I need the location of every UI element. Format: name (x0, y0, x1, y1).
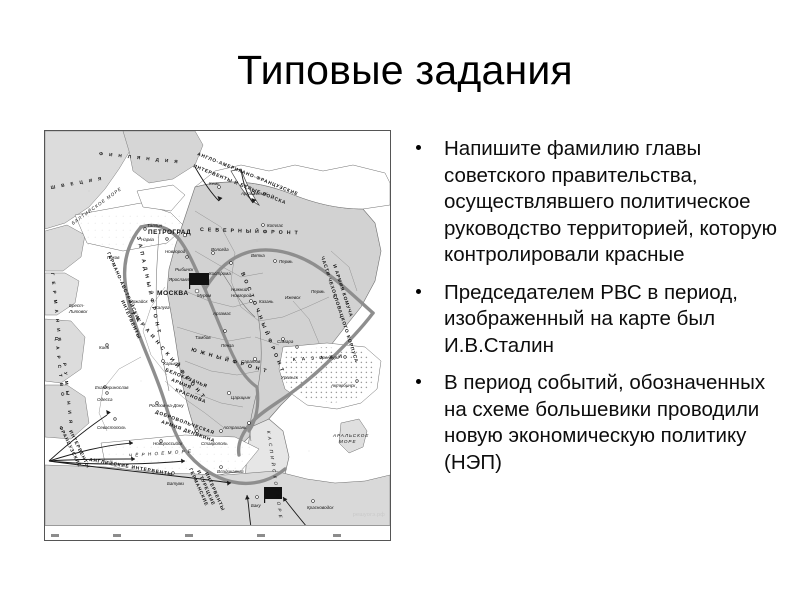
svg-text:Кемь: Кемь (209, 181, 220, 186)
svg-text:Таллин: Таллин (147, 223, 163, 228)
svg-text:Батуми: Батуми (167, 481, 184, 486)
svg-text:Литовск: Литовск (68, 309, 88, 314)
svg-text:ПЕТРОГРАД: ПЕТРОГРАД (148, 229, 191, 236)
svg-text:Ярославль: Ярославль (168, 277, 192, 282)
svg-text:Кострома: Кострома (209, 271, 231, 276)
svg-text:Рыбинск: Рыбинск (175, 267, 194, 272)
civil-war-map: ПЕТРОГРАД МОСКВА Кемь Архангельск Котлас… (44, 130, 391, 541)
list-item: Председателем РВС в период, изображенный… (408, 280, 780, 360)
svg-text:Владикавказ: Владикавказ (217, 469, 244, 474)
bullet-list: Напишите фамилию главы советского правит… (408, 136, 780, 476)
svg-text:Муром: Муром (197, 293, 211, 298)
svg-text:Ижевск: Ижевск (285, 295, 301, 300)
map-watermark: решуогэ.рф (353, 512, 385, 518)
svg-text:Казань: Казань (259, 299, 274, 304)
svg-text:Одесса: Одесса (97, 397, 113, 402)
bullet-dot-icon (416, 289, 421, 294)
svg-text:Царицын: Царицын (231, 395, 251, 400)
svg-text:Пермь: Пермь (279, 259, 293, 264)
bullet-text: В период событий, обозначенных на схеме … (444, 371, 765, 474)
svg-text:Пенза: Пенза (221, 343, 234, 348)
svg-text:Красноводск: Красноводск (307, 505, 334, 510)
svg-text:Брест-: Брест- (69, 303, 85, 308)
svg-text:Нарва: Нарва (141, 237, 155, 242)
map-scale-strip (45, 525, 390, 540)
svg-text:Актюбинск: Актюбинск (330, 383, 356, 388)
list-item: Напишите фамилию главы советского правит… (408, 136, 780, 269)
svg-text:Екатеринослав: Екатеринослав (95, 385, 129, 390)
list-item: В период событий, обозначенных на схеме … (408, 370, 780, 476)
page-title: Типовые задания (60, 45, 750, 95)
svg-text:Новгород: Новгород (165, 249, 186, 254)
svg-text:Баку: Баку (251, 503, 262, 508)
svg-text:Арзамас: Арзамас (212, 311, 232, 316)
svg-text:Пермь: Пермь (311, 289, 325, 294)
svg-text:Астрахань: Астрахань (222, 425, 247, 430)
svg-text:АРАЛЬСКОЕ: АРАЛЬСКОЕ (332, 433, 369, 438)
bullet-text: Напишите фамилию главы советского правит… (444, 137, 777, 266)
bullet-text: Председателем РВС в период, изображенный… (444, 281, 738, 357)
svg-text:Самара: Самара (277, 339, 294, 344)
bullet-dot-icon (416, 379, 421, 384)
slide: Типовые задания (0, 0, 800, 600)
map-graphic: ПЕТРОГРАД МОСКВА Кемь Архангельск Котлас… (45, 131, 390, 540)
svg-text:Котлас: Котлас (267, 223, 284, 228)
svg-text:Новороссийск: Новороссийск (153, 440, 183, 446)
svg-text:Ростов-на-Дону: Ростов-на-Дону (149, 403, 184, 408)
svg-text:Севастополь: Севастополь (97, 425, 126, 430)
svg-text:Уральск: Уральск (281, 375, 299, 380)
svg-text:Вологда: Вологда (211, 247, 229, 252)
bullet-dot-icon (416, 145, 421, 150)
svg-text:Киев: Киев (99, 345, 110, 350)
svg-text:МОСКВА: МОСКВА (157, 290, 189, 297)
svg-text:Тамбов: Тамбов (195, 335, 211, 340)
svg-text:Вятка: Вятка (251, 253, 265, 258)
svg-text:МОРЕ: МОРЕ (339, 439, 357, 444)
